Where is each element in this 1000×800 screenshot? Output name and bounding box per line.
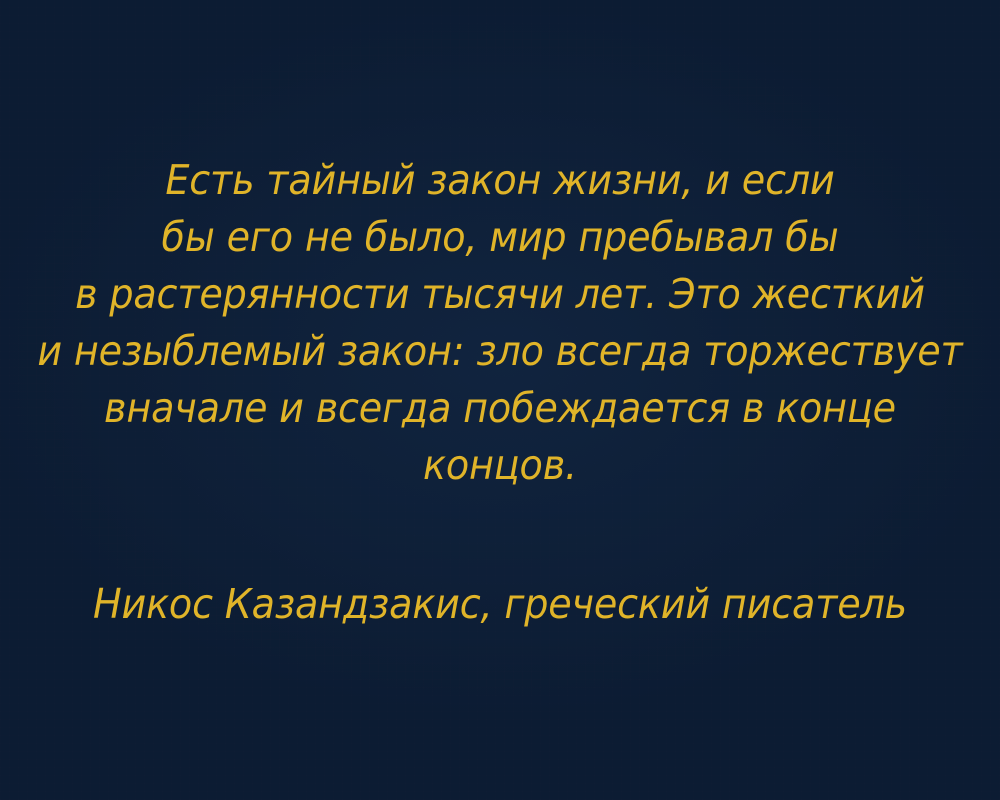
attribution-block: Никос Казандзакис, греческий писатель bbox=[0, 578, 1000, 630]
quote-line: вначале и всегда побеждается в конце bbox=[35, 380, 965, 437]
quote-card: Есть тайный закон жизни, и если бы его н… bbox=[0, 0, 1000, 800]
attribution-text: Никос Казандзакис, греческий писатель bbox=[35, 578, 965, 630]
quote-text-block: Есть тайный закон жизни, и если бы его н… bbox=[0, 152, 1000, 494]
quote-line: в растерянности тысячи лет. Это жесткий bbox=[35, 266, 965, 323]
quote-line: и незыблемый закон: зло всегда торжеству… bbox=[35, 323, 965, 380]
quote-line: концов. bbox=[35, 437, 965, 494]
quote-line: бы его не было, мир пребывал бы bbox=[35, 209, 965, 266]
quote-line: Есть тайный закон жизни, и если bbox=[35, 152, 965, 209]
